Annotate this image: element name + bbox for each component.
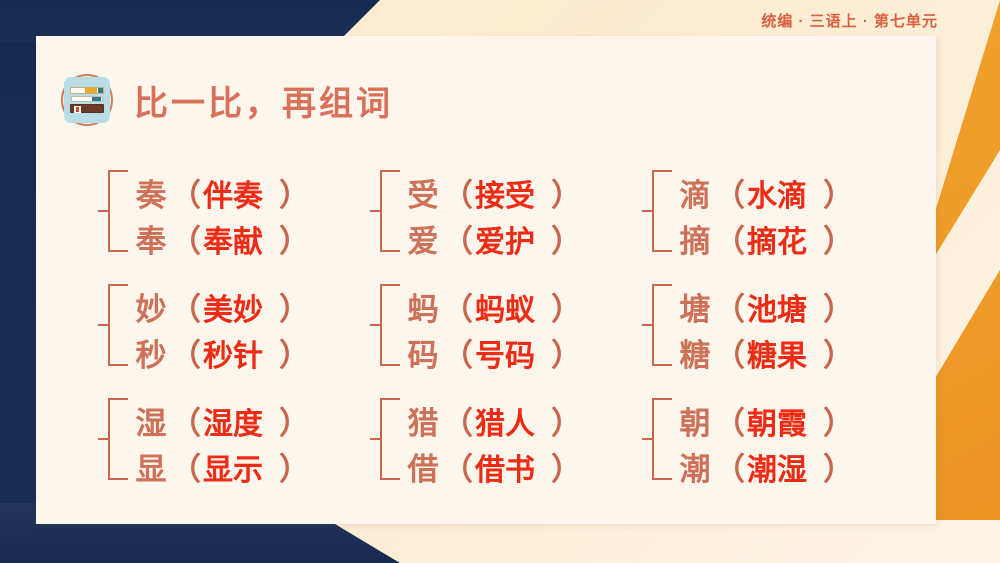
paren-open: （: [442, 170, 459, 215]
prompt-character: 湿: [132, 398, 170, 443]
word-pair-row: 码（号码）: [404, 330, 568, 366]
answer-word: 湿度: [187, 399, 279, 443]
paren-open: （: [170, 444, 187, 489]
group-bracket-icon: [108, 170, 128, 252]
word-pair-group: 受（接受）爱（爱护）: [376, 154, 648, 268]
word-pair-row: 潮（潮湿）: [676, 444, 840, 480]
group-bracket-icon: [380, 284, 400, 366]
word-pair-row: 滴（水滴）: [676, 170, 840, 206]
paren-open: （: [714, 170, 731, 215]
paren-open: （: [170, 170, 187, 215]
answer-word: 伴奏: [187, 171, 279, 215]
icon-square-background: [64, 77, 110, 123]
paren-close: ）: [551, 444, 568, 489]
paren-open: （: [170, 398, 187, 443]
paren-close: ）: [551, 330, 568, 375]
word-pair-group: 滴（水滴）摘（摘花）: [648, 154, 914, 268]
prompt-character: 奉: [132, 216, 170, 261]
prompt-character: 猎: [404, 398, 442, 443]
prompt-character: 妙: [132, 284, 170, 329]
paren-close: ）: [823, 330, 840, 375]
word-pair-row: 朝（朝霞）: [676, 398, 840, 434]
word-pair-row: 糖（糖果）: [676, 330, 840, 366]
word-pair-group: 朝（朝霞）潮（潮湿）: [648, 382, 914, 496]
word-pair-row: 摘（摘花）: [676, 216, 840, 252]
group-bracket-icon: [380, 170, 400, 252]
paren-close: ）: [823, 170, 840, 215]
group-bracket-icon: [108, 284, 128, 366]
prompt-character: 朝: [676, 398, 714, 443]
title-row: 比一比，再组词: [58, 68, 393, 132]
answer-word: 显示: [187, 445, 279, 489]
prompt-character: 码: [404, 330, 442, 375]
paren-open: （: [714, 284, 731, 329]
word-pair-group: 蚂（蚂蚁）码（号码）: [376, 268, 648, 382]
book-bottom: [70, 104, 104, 113]
answer-word: 秒针: [187, 331, 279, 375]
word-pair-row: 妙（美妙）: [132, 284, 296, 320]
answer-word: 朝霞: [731, 399, 823, 443]
group-bracket-icon: [108, 398, 128, 480]
paren-open: （: [714, 330, 731, 375]
paren-close: ）: [823, 216, 840, 261]
answer-word: 借书: [459, 445, 551, 489]
paren-close: ）: [279, 444, 296, 489]
paren-close: ）: [823, 398, 840, 443]
prompt-character: 摘: [676, 216, 714, 261]
paren-open: （: [442, 444, 459, 489]
group-rows: 滴（水滴）摘（摘花）: [676, 170, 840, 252]
group-rows: 猎（猎人）借（借书）: [404, 398, 568, 480]
paren-close: ）: [279, 284, 296, 329]
paren-close: ）: [279, 330, 296, 375]
group-rows: 奏（伴奏）奉（奉献）: [132, 170, 296, 252]
book-top: [70, 87, 104, 94]
word-pair-group: 妙（美妙）秒（秒针）: [104, 268, 376, 382]
paren-open: （: [442, 216, 459, 261]
paren-open: （: [714, 216, 731, 261]
prompt-character: 潮: [676, 444, 714, 489]
group-rows: 受（接受）爱（爱护）: [404, 170, 568, 252]
paren-open: （: [170, 330, 187, 375]
paren-close: ）: [551, 284, 568, 329]
paren-open: （: [442, 398, 459, 443]
paren-close: ）: [551, 398, 568, 443]
answer-word: 猎人: [459, 399, 551, 443]
word-pair-row: 蚂（蚂蚁）: [404, 284, 568, 320]
group-rows: 塘（池塘）糖（糖果）: [676, 284, 840, 366]
word-pair-row: 奉（奉献）: [132, 216, 296, 252]
answer-word: 美妙: [187, 285, 279, 329]
paren-open: （: [442, 330, 459, 375]
group-bracket-icon: [652, 398, 672, 480]
prompt-character: 受: [404, 170, 442, 215]
word-pair-row: 借（借书）: [404, 444, 568, 480]
word-pair-group: 塘（池塘）糖（糖果）: [648, 268, 914, 382]
paren-close: ）: [551, 170, 568, 215]
group-bracket-icon: [652, 170, 672, 252]
answer-word: 蚂蚁: [459, 285, 551, 329]
navy-left-band: [0, 0, 40, 563]
answer-word: 池塘: [731, 285, 823, 329]
paren-open: （: [170, 216, 187, 261]
prompt-character: 奏: [132, 170, 170, 215]
word-pair-row: 受（接受）: [404, 170, 568, 206]
book-middle: [71, 96, 103, 102]
paren-open: （: [442, 284, 459, 329]
prompt-character: 借: [404, 444, 442, 489]
prompt-character: 滴: [676, 170, 714, 215]
answer-word: 水滴: [731, 171, 823, 215]
paren-open: （: [714, 444, 731, 489]
paren-close: ）: [279, 398, 296, 443]
page-title: 比一比，再组词: [134, 76, 393, 125]
group-bracket-icon: [380, 398, 400, 480]
paren-open: （: [170, 284, 187, 329]
prompt-character: 秒: [132, 330, 170, 375]
word-pair-row: 塘（池塘）: [676, 284, 840, 320]
paren-close: ）: [279, 170, 296, 215]
word-pair-row: 猎（猎人）: [404, 398, 568, 434]
word-pair-row: 奏（伴奏）: [132, 170, 296, 206]
book-stack-icon: [58, 71, 116, 129]
word-pair-group: 湿（湿度）显（显示）: [104, 382, 376, 496]
group-rows: 蚂（蚂蚁）码（号码）: [404, 284, 568, 366]
word-pair-row: 秒（秒针）: [132, 330, 296, 366]
answer-word: 潮湿: [731, 445, 823, 489]
content-card: 比一比，再组词 奏（伴奏）奉（奉献）受（接受）爱（爱护）滴（水滴）摘（摘花）妙（…: [36, 36, 936, 524]
prompt-character: 显: [132, 444, 170, 489]
answer-word: 接受: [459, 171, 551, 215]
group-rows: 湿（湿度）显（显示）: [132, 398, 296, 480]
paren-close: ）: [279, 216, 296, 261]
prompt-character: 糖: [676, 330, 714, 375]
group-bracket-icon: [652, 284, 672, 366]
prompt-character: 蚂: [404, 284, 442, 329]
word-pair-group: 猎（猎人）借（借书）: [376, 382, 648, 496]
word-pair-row: 湿（湿度）: [132, 398, 296, 434]
paren-close: ）: [551, 216, 568, 261]
word-pair-group: 奏（伴奏）奉（奉献）: [104, 154, 376, 268]
word-pair-row: 爱（爱护）: [404, 216, 568, 252]
paren-close: ）: [823, 284, 840, 329]
word-pair-grid: 奏（伴奏）奉（奉献）受（接受）爱（爱护）滴（水滴）摘（摘花）妙（美妙）秒（秒针）…: [104, 154, 914, 496]
paren-close: ）: [823, 444, 840, 489]
slide-stage: 统编 · 三语上 · 第七单元 比一比，再组词 奏（伴奏）奉（奉献）受（接受）爱…: [0, 0, 1000, 563]
prompt-character: 塘: [676, 284, 714, 329]
header-meta-label: 统编 · 三语上 · 第七单元: [761, 10, 938, 31]
prompt-character: 爱: [404, 216, 442, 261]
paren-open: （: [714, 398, 731, 443]
answer-word: 糖果: [731, 331, 823, 375]
group-rows: 妙（美妙）秒（秒针）: [132, 284, 296, 366]
answer-word: 摘花: [731, 217, 823, 261]
word-pair-row: 显（显示）: [132, 444, 296, 480]
answer-word: 爱护: [459, 217, 551, 261]
answer-word: 号码: [459, 331, 551, 375]
answer-word: 奉献: [187, 217, 279, 261]
group-rows: 朝（朝霞）潮（潮湿）: [676, 398, 840, 480]
